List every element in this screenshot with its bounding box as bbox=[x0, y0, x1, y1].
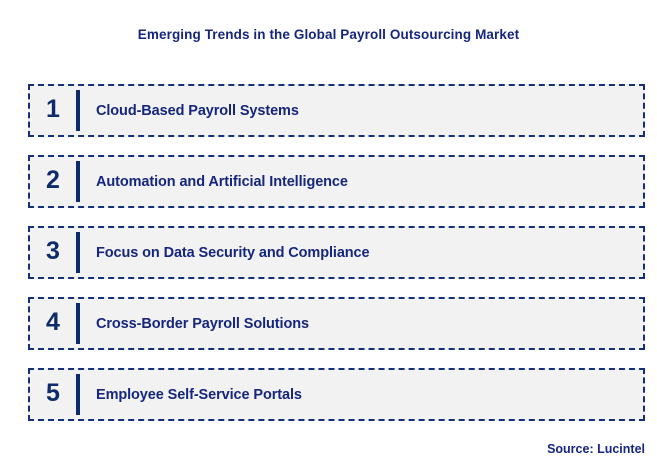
list-item: 4 Cross-Border Payroll Solutions bbox=[28, 297, 645, 350]
trend-rank-number: 4 bbox=[30, 310, 76, 337]
source-attribution: Source: Lucintel bbox=[547, 442, 645, 456]
trend-rank-number: 1 bbox=[30, 97, 76, 124]
trend-label: Automation and Artificial Intelligence bbox=[80, 174, 643, 190]
trend-rank-number: 3 bbox=[30, 239, 76, 266]
infographic-container: Emerging Trends in the Global Payroll Ou… bbox=[0, 0, 657, 469]
list-item: 3 Focus on Data Security and Compliance bbox=[28, 226, 645, 279]
page-title: Emerging Trends in the Global Payroll Ou… bbox=[0, 27, 657, 42]
trend-rank-number: 5 bbox=[30, 381, 76, 408]
trend-list: 1 Cloud-Based Payroll Systems 2 Automati… bbox=[28, 84, 645, 439]
trend-label: Cloud-Based Payroll Systems bbox=[80, 103, 643, 119]
trend-label: Cross-Border Payroll Solutions bbox=[80, 316, 643, 332]
list-item: 1 Cloud-Based Payroll Systems bbox=[28, 84, 645, 137]
list-item: 5 Employee Self-Service Portals bbox=[28, 368, 645, 421]
trend-rank-number: 2 bbox=[30, 168, 76, 195]
list-item: 2 Automation and Artificial Intelligence bbox=[28, 155, 645, 208]
trend-label: Focus on Data Security and Compliance bbox=[80, 245, 643, 261]
trend-label: Employee Self-Service Portals bbox=[80, 387, 643, 403]
